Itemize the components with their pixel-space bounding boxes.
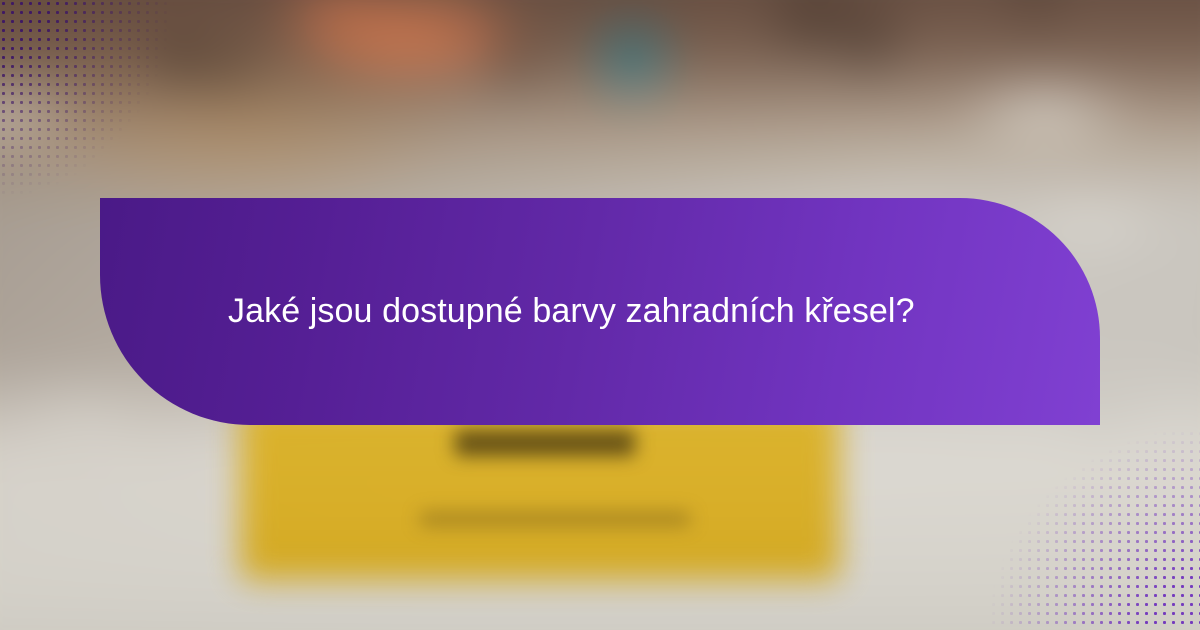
page-title: Jaké jsou dostupné barvy zahradních křes… [228, 290, 915, 333]
og-share-card: Jaké jsou dostupné barvy zahradních křes… [0, 0, 1200, 630]
background-yellow-sign [240, 400, 840, 580]
background-yellow-sign-subtext-blur [420, 512, 690, 526]
headline-banner: Jaké jsou dostupné barvy zahradních křes… [100, 198, 1100, 425]
background-yellow-sign-heading-blur [455, 430, 635, 456]
